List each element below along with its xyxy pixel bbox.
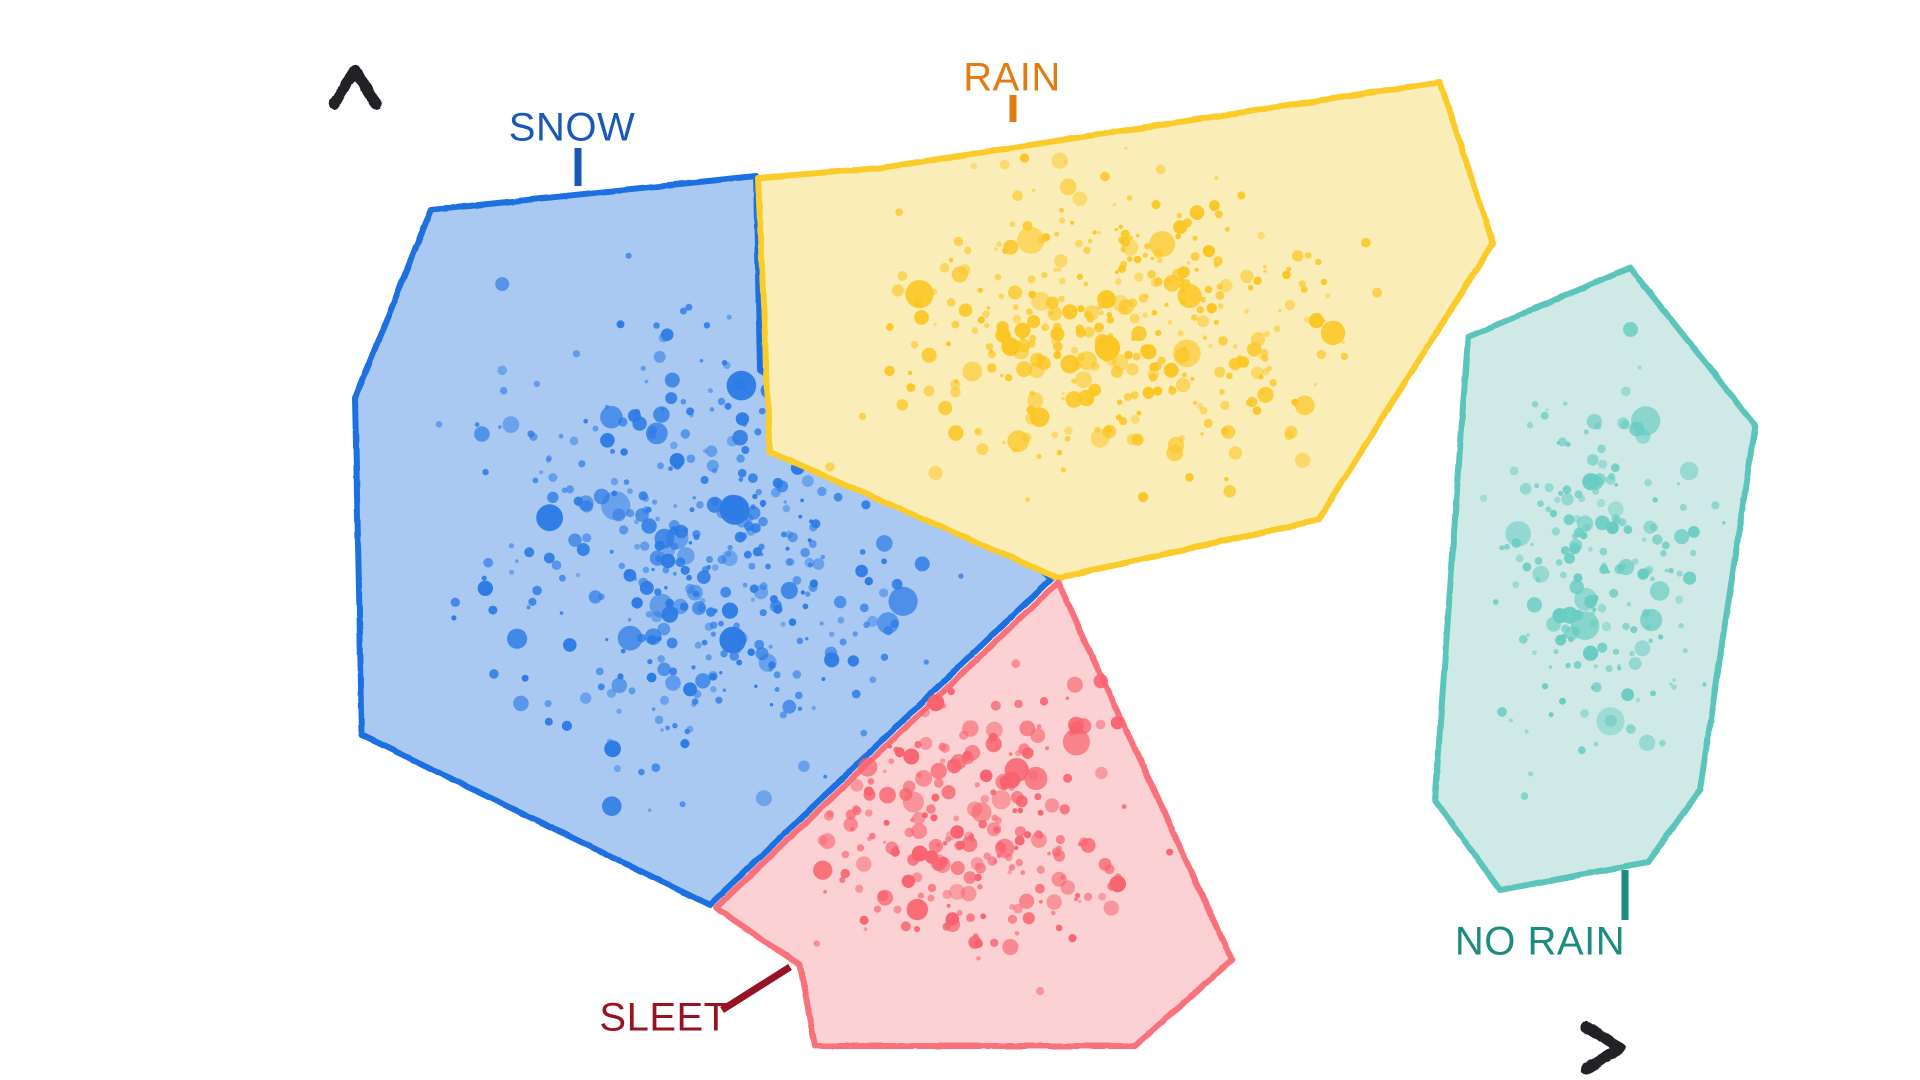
- cluster-hull: [1435, 268, 1755, 890]
- chart-canvas: SNOW RAIN SLEET NO RAIN: [0, 0, 1920, 1080]
- cluster-label-sleet: SLEET: [599, 996, 728, 1041]
- cluster-label-no-rain: NO RAIN: [1455, 920, 1625, 965]
- scatter-plot: [0, 0, 1920, 1080]
- cluster-label-rain: RAIN: [963, 56, 1061, 101]
- cluster-regions: [355, 82, 1755, 1046]
- leader-line-sleet: [722, 967, 790, 1010]
- cluster-label-snow: SNOW: [509, 106, 635, 151]
- cluster-no-rain[interactable]: [1435, 268, 1755, 890]
